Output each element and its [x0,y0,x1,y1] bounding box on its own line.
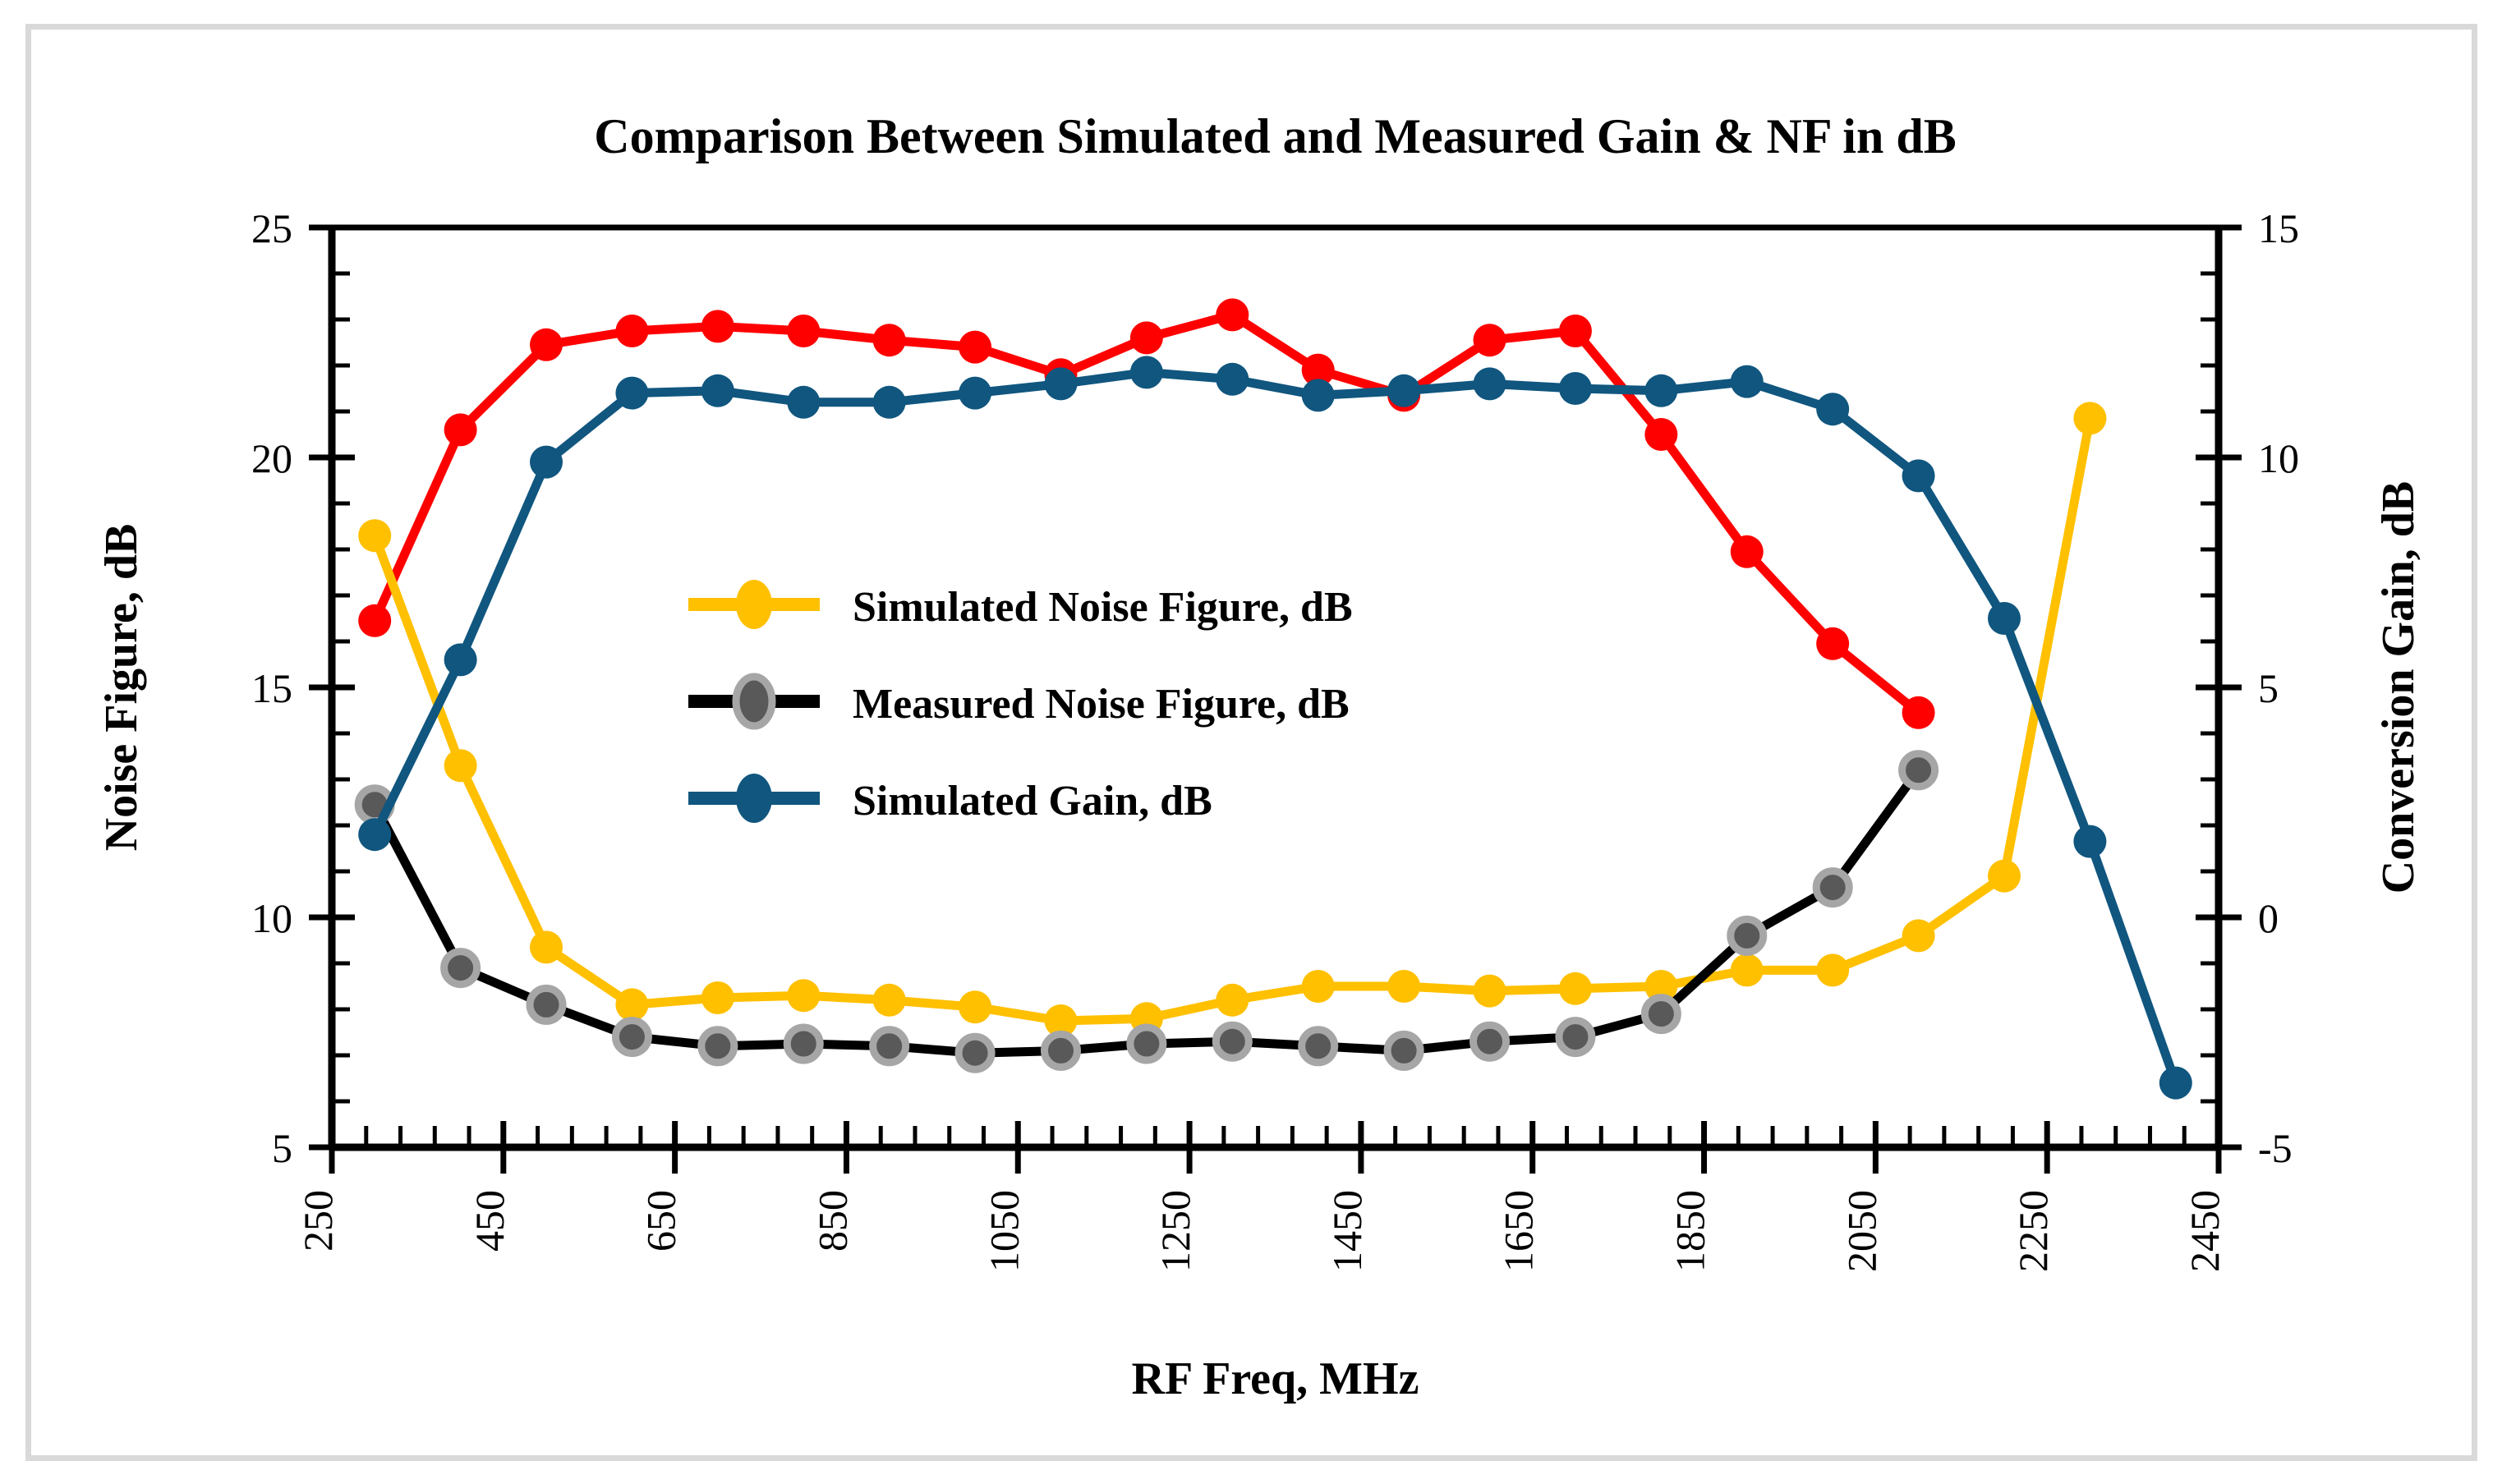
data-point [1216,984,1249,1017]
x-axis-tick-label: 1050 [981,1190,1027,1272]
data-point [2073,402,2106,434]
figure-frame: Comparison Between Simulated and Measure… [0,0,2502,1484]
data-point [787,979,820,1012]
x-axis-tick-label: 1450 [1324,1190,1370,1272]
data-point [1816,393,1849,425]
data-point [701,981,734,1014]
data-point [358,519,391,552]
data-point [615,988,648,1021]
data-point [873,1030,906,1063]
data-point [1902,919,1935,952]
left-axis-tick-label: 10 [251,895,292,941]
data-point [1988,602,2021,635]
data-point [1130,321,1163,354]
data-point [1474,367,1506,400]
data-point [959,331,991,364]
data-point [1216,1025,1249,1058]
left-axis-tick-label: 25 [251,205,292,251]
data-point [787,1027,820,1060]
data-point [1816,871,1849,904]
left-axis-tick-label: 15 [251,665,292,711]
data-point [530,930,563,963]
data-point [701,310,734,342]
x-axis-tick-label: 250 [295,1190,341,1252]
right-axis-tick-label: 0 [2258,895,2279,941]
figure-border: Comparison Between Simulated and Measure… [25,24,2477,1461]
x-axis-tick-label: 1650 [1496,1190,1542,1272]
x-axis-tick-label: 1250 [1152,1190,1198,1272]
legend-item-label: Measured Noise Figure, dB [853,681,1350,728]
data-point [444,952,477,985]
data-point [701,374,734,407]
data-point [1216,363,1249,396]
data-point [530,329,563,361]
data-point [1731,919,1764,952]
data-point [1731,365,1764,398]
data-point [1387,374,1420,407]
data-point [701,1030,734,1063]
legend-marker-swatch [736,677,772,726]
x-axis-tick-label: 1850 [1667,1190,1713,1272]
data-point [1902,754,1935,787]
right-axis-tick-label: 15 [2258,205,2299,251]
data-point [615,1021,648,1054]
x-axis-tick-label: 2050 [1838,1190,1884,1272]
data-point [2159,1067,2192,1100]
chart-title: Comparison Between Simulated and Measure… [594,109,1956,163]
left-axis-tick-label: 5 [272,1125,292,1171]
data-point [1044,367,1077,400]
data-point [1474,324,1506,356]
data-point [1387,1034,1420,1067]
right-axis-tick-label: -5 [2258,1125,2293,1171]
data-point [358,604,391,637]
legend-item-label: Simulated Gain, dB [853,778,1212,825]
data-point [530,446,563,479]
data-point [873,984,906,1017]
data-point [1387,970,1420,1003]
data-point [1644,998,1677,1031]
right-axis-tick-label: 5 [2258,665,2279,711]
x-axis-title: RF Freq, MHz [1132,1353,1419,1404]
data-point [1816,953,1849,986]
data-point [444,413,477,446]
x-axis-tick-label: 2250 [2010,1190,2056,1272]
right-axis-tick-label: 10 [2258,435,2299,481]
data-point [358,818,391,851]
data-point [1902,696,1935,729]
data-point [1130,356,1163,388]
x-axis-tick-label: 850 [809,1190,855,1252]
left-axis-tick-label: 20 [251,435,292,481]
left-axis-title: Noise Figure, dB [96,524,147,852]
data-point [1216,298,1249,331]
data-point [444,643,477,676]
data-point [615,377,648,410]
data-point [959,377,991,410]
data-point [1302,970,1335,1003]
data-point [1559,972,1592,1005]
data-point [1644,418,1677,451]
data-point [530,988,563,1021]
data-point [615,315,648,347]
data-point [1816,627,1849,660]
data-point [2073,825,2106,858]
data-point [1559,315,1592,347]
data-point [959,1036,991,1069]
data-point [1302,1030,1335,1063]
legend-item-label: Simulated Noise Figure, dB [853,584,1353,631]
data-point [1559,1021,1592,1054]
data-point [1988,860,2021,893]
data-point [1731,535,1764,568]
data-point [787,386,820,419]
data-point [1644,374,1677,407]
data-point [1302,379,1335,411]
chart-canvas: Comparison Between Simulated and Measure… [31,30,2472,1455]
data-point [959,990,991,1023]
data-point [1044,1034,1077,1067]
right-axis-title: Conversion Gain, dB [2373,481,2424,894]
legend-marker-swatch [736,580,772,629]
data-point [1902,459,1935,492]
data-point [1474,1025,1506,1058]
legend-marker-swatch [736,774,772,823]
data-point [1731,953,1764,986]
x-axis-tick-label: 650 [638,1190,684,1252]
data-point [873,386,906,419]
data-point [1559,372,1592,405]
data-point [873,324,906,356]
data-point [787,315,820,347]
data-point [1474,975,1506,1008]
x-axis-tick-label: 450 [467,1190,513,1252]
data-point [444,749,477,782]
data-point [1130,1027,1163,1060]
x-axis-tick-label: 2450 [2182,1190,2228,1272]
